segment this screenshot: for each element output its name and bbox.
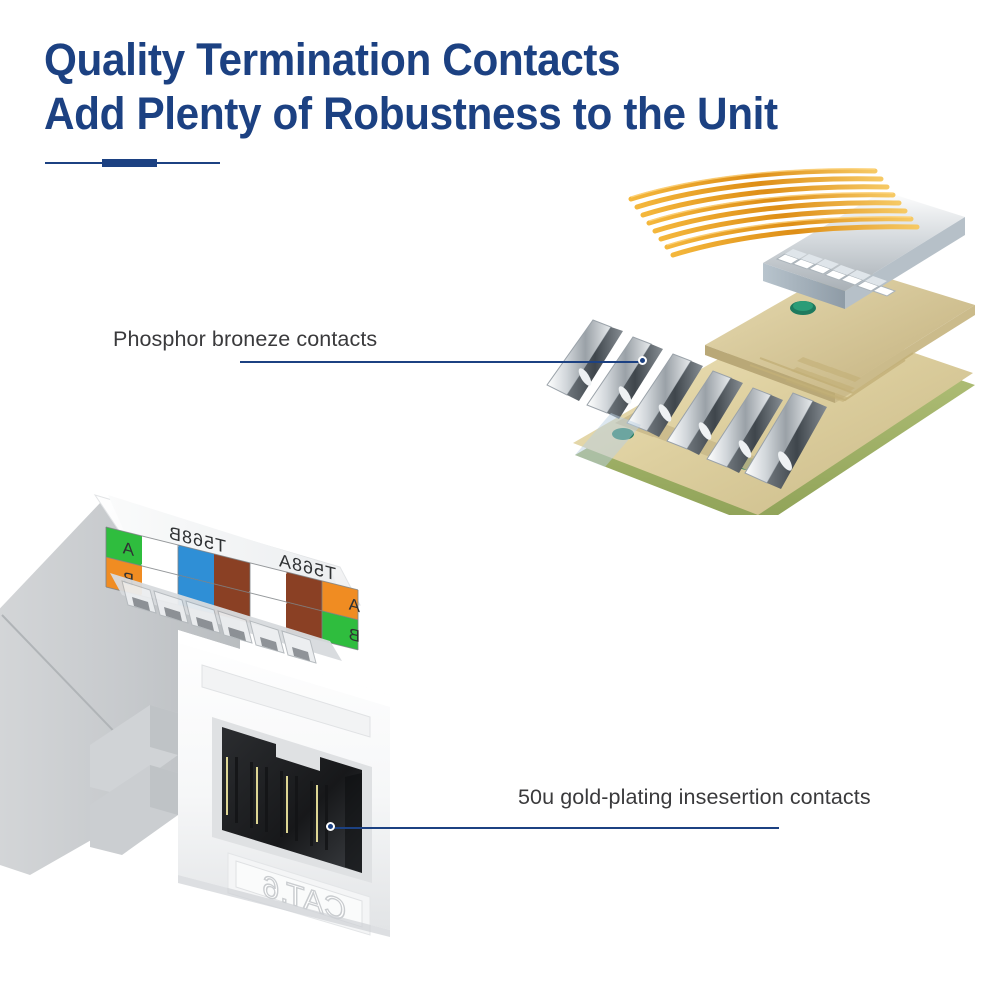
svg-text:A: A (122, 537, 134, 560)
callout-phosphor-bronze-dot (638, 356, 647, 365)
callout-phosphor-bronze: Phosphor broneze contacts (113, 325, 673, 375)
page-title-line-2: Add Plenty of Robustness to the Unit (44, 87, 852, 141)
page-title-line-1: Quality Termination Contacts (44, 34, 620, 85)
heading-underline (45, 158, 220, 168)
callout-phosphor-bronze-label: Phosphor broneze contacts (113, 325, 377, 353)
callout-phosphor-bronze-leader (240, 361, 646, 363)
product-feature-graphic: Quality Termination Contacts Add Plenty … (0, 0, 1000, 1000)
keystone-jack-image: T568A T568B (0, 455, 510, 955)
svg-text:A: A (348, 594, 360, 617)
svg-text:B: B (349, 624, 360, 647)
callout-gold-plating: 50u gold-plating insesertion contacts (330, 783, 980, 838)
heading-underline-thick-bar (102, 159, 157, 167)
page-title: Quality Termination Contacts Add Plenty … (44, 33, 852, 141)
callout-gold-plating-leader (334, 827, 779, 829)
callout-gold-plating-dot (326, 822, 335, 831)
callout-gold-plating-label: 50u gold-plating insesertion contacts (518, 783, 871, 811)
